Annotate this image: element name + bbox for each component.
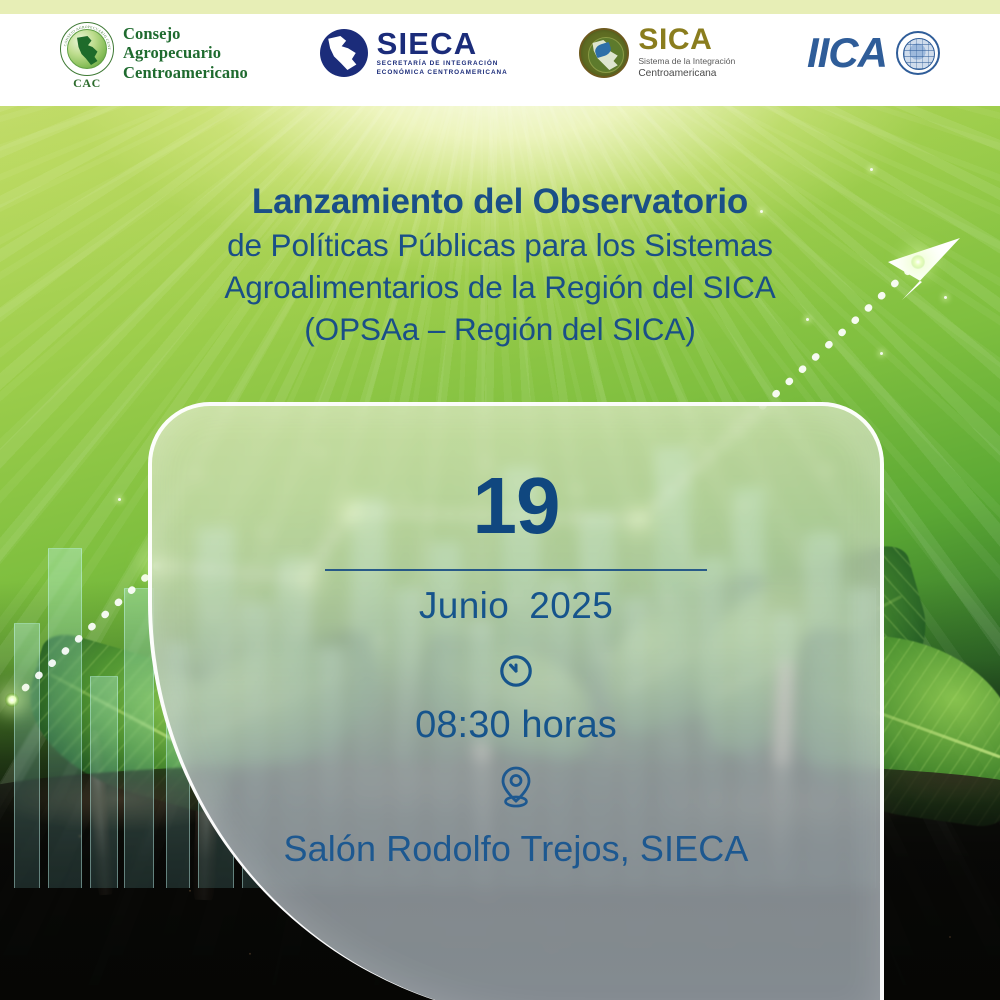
iica-wordmark: IICA	[807, 32, 887, 74]
light-spark	[880, 352, 883, 355]
cac-name: Consejo Agropecuario Centroamericano	[123, 24, 248, 82]
top-accent-strip	[0, 0, 1000, 14]
event-info-card: 19 Junio 2025 08:30 horas	[148, 402, 884, 1000]
sieca-map-disc-icon	[320, 29, 368, 77]
sieca-wordmark: SIECA	[377, 29, 508, 59]
glass-bar	[90, 676, 118, 888]
sica-wordmark: SICA	[638, 26, 735, 55]
sica-name: SICA Sistema de la Integración Centroame…	[638, 26, 735, 81]
title-line-1: Lanzamiento del Observatorio	[0, 180, 1000, 225]
logo-sieca: SIECA SECRETARÍA DE INTEGRACIÓN ECONÓMIC…	[320, 29, 508, 78]
cac-seal-label: CAC	[60, 76, 114, 91]
event-venue: Salón Rodolfo Trejos, SIECA	[284, 828, 749, 870]
cac-name-line-2: Agropecuario	[123, 43, 248, 62]
clock-icon	[498, 653, 534, 694]
page-title: Lanzamiento del Observatorio de Política…	[0, 180, 1000, 350]
title-line-3: Agroalimentarios de la Región del SICA	[0, 267, 1000, 309]
organization-logo-bar: CONSEJO AGROPECUARIO CENTROAMERICANO CAC…	[0, 0, 1000, 106]
title-line-4: (OPSAa – Región del SICA)	[0, 309, 1000, 351]
map-pin-icon	[497, 765, 535, 816]
event-year: 2025	[529, 585, 613, 627]
date-divider	[325, 569, 707, 571]
sica-seal-icon	[579, 28, 629, 78]
light-spark	[870, 168, 873, 171]
event-day: 19	[473, 468, 560, 543]
glass-bar	[48, 548, 82, 888]
cac-globe-seal-icon: CONSEJO AGROPECUARIO CENTROAMERICANO CAC	[60, 22, 114, 84]
glass-bar	[14, 623, 40, 888]
cac-name-line-1: Consejo	[123, 24, 248, 43]
sica-sub-line-2: Centroamericana	[638, 68, 716, 79]
event-time: 08:30 horas	[415, 704, 617, 747]
sieca-sub-line-1: SECRETARÍA DE INTEGRACIÓN	[377, 60, 508, 69]
light-spark	[118, 498, 121, 501]
title-line-2: de Políticas Públicas para los Sistemas	[0, 225, 1000, 267]
iica-globe-icon	[896, 31, 940, 75]
sica-sub-line-1: Sistema de la Integración	[638, 56, 735, 67]
event-month-year: Junio 2025	[419, 585, 613, 627]
cac-name-line-3: Centroamericano	[123, 63, 248, 82]
logo-cac: CONSEJO AGROPECUARIO CENTROAMERICANO CAC…	[60, 22, 248, 84]
logo-sica: SICA Sistema de la Integración Centroame…	[579, 26, 735, 81]
sieca-sub-line-2: ECONÓMICA CENTROAMERICANA	[377, 69, 508, 78]
trend-node	[5, 693, 19, 707]
poster-canvas: Lanzamiento del Observatorio de Política…	[0, 0, 1000, 1000]
sieca-name: SIECA SECRETARÍA DE INTEGRACIÓN ECONÓMIC…	[377, 29, 508, 78]
logo-iica: IICA	[807, 31, 940, 75]
event-month: Junio	[419, 585, 509, 627]
